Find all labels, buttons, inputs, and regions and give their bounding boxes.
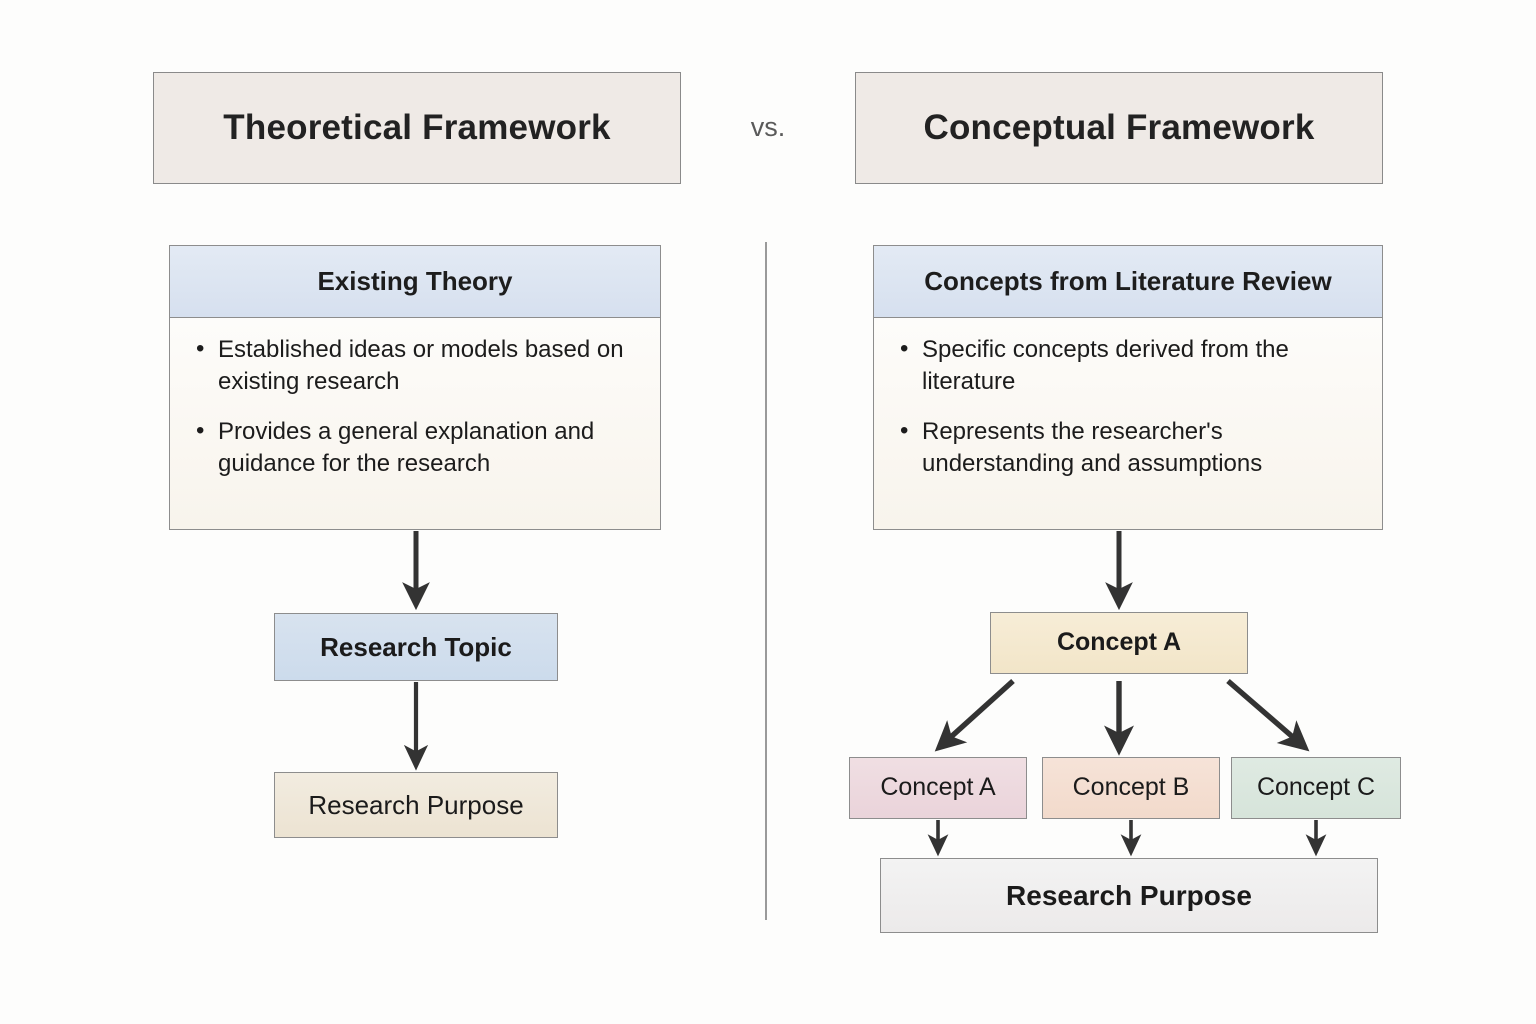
panel-right-title: Concepts from Literature Review — [874, 246, 1382, 318]
node-concept-a-parent: Concept A — [990, 612, 1248, 674]
list-item: Established ideas or models based on exi… — [192, 334, 638, 398]
arrow-concept-a-to-child-c — [1228, 681, 1302, 745]
node-concept-b-child-label: Concept B — [1073, 772, 1190, 803]
node-research-purpose-right-label: Research Purpose — [1006, 878, 1252, 913]
header-right-label: Conceptual Framework — [923, 106, 1314, 150]
node-research-purpose-left: Research Purpose — [274, 772, 558, 838]
node-concept-c-child: Concept C — [1231, 757, 1401, 819]
node-concept-b-child: Concept B — [1042, 757, 1220, 819]
panel-right-body: Specific concepts derived from the liter… — [874, 318, 1382, 529]
arrow-concept-a-to-child-a — [942, 681, 1013, 745]
node-concept-c-child-label: Concept C — [1257, 772, 1375, 803]
panel-concepts-from-literature-review: Concepts from Literature Review Specific… — [873, 245, 1383, 530]
column-divider — [765, 242, 767, 920]
list-item: Provides a general explanation and guida… — [192, 416, 638, 480]
node-research-topic-label: Research Topic — [320, 631, 512, 664]
list-item: Specific concepts derived from the liter… — [896, 334, 1360, 398]
node-concept-a-child-label: Concept A — [880, 772, 995, 803]
panel-left-bullet-list: Established ideas or models based on exi… — [192, 334, 638, 480]
diagram-canvas: Theoretical Framework vs. Conceptual Fra… — [0, 0, 1536, 1024]
header-theoretical-framework: Theoretical Framework — [153, 72, 681, 184]
header-conceptual-framework: Conceptual Framework — [855, 72, 1383, 184]
node-research-purpose-left-label: Research Purpose — [308, 789, 523, 822]
header-left-label: Theoretical Framework — [223, 106, 610, 150]
list-item: Represents the researcher's understandin… — [896, 416, 1360, 480]
node-concept-a-child: Concept A — [849, 757, 1027, 819]
panel-existing-theory: Existing Theory Established ideas or mod… — [169, 245, 661, 530]
panel-left-title: Existing Theory — [170, 246, 660, 318]
vs-label: vs. — [700, 112, 836, 143]
panel-left-body: Established ideas or models based on exi… — [170, 318, 660, 529]
node-research-purpose-right: Research Purpose — [880, 858, 1378, 933]
node-research-topic: Research Topic — [274, 613, 558, 681]
node-concept-a-parent-label: Concept A — [1057, 627, 1181, 658]
panel-right-bullet-list: Specific concepts derived from the liter… — [896, 334, 1360, 480]
